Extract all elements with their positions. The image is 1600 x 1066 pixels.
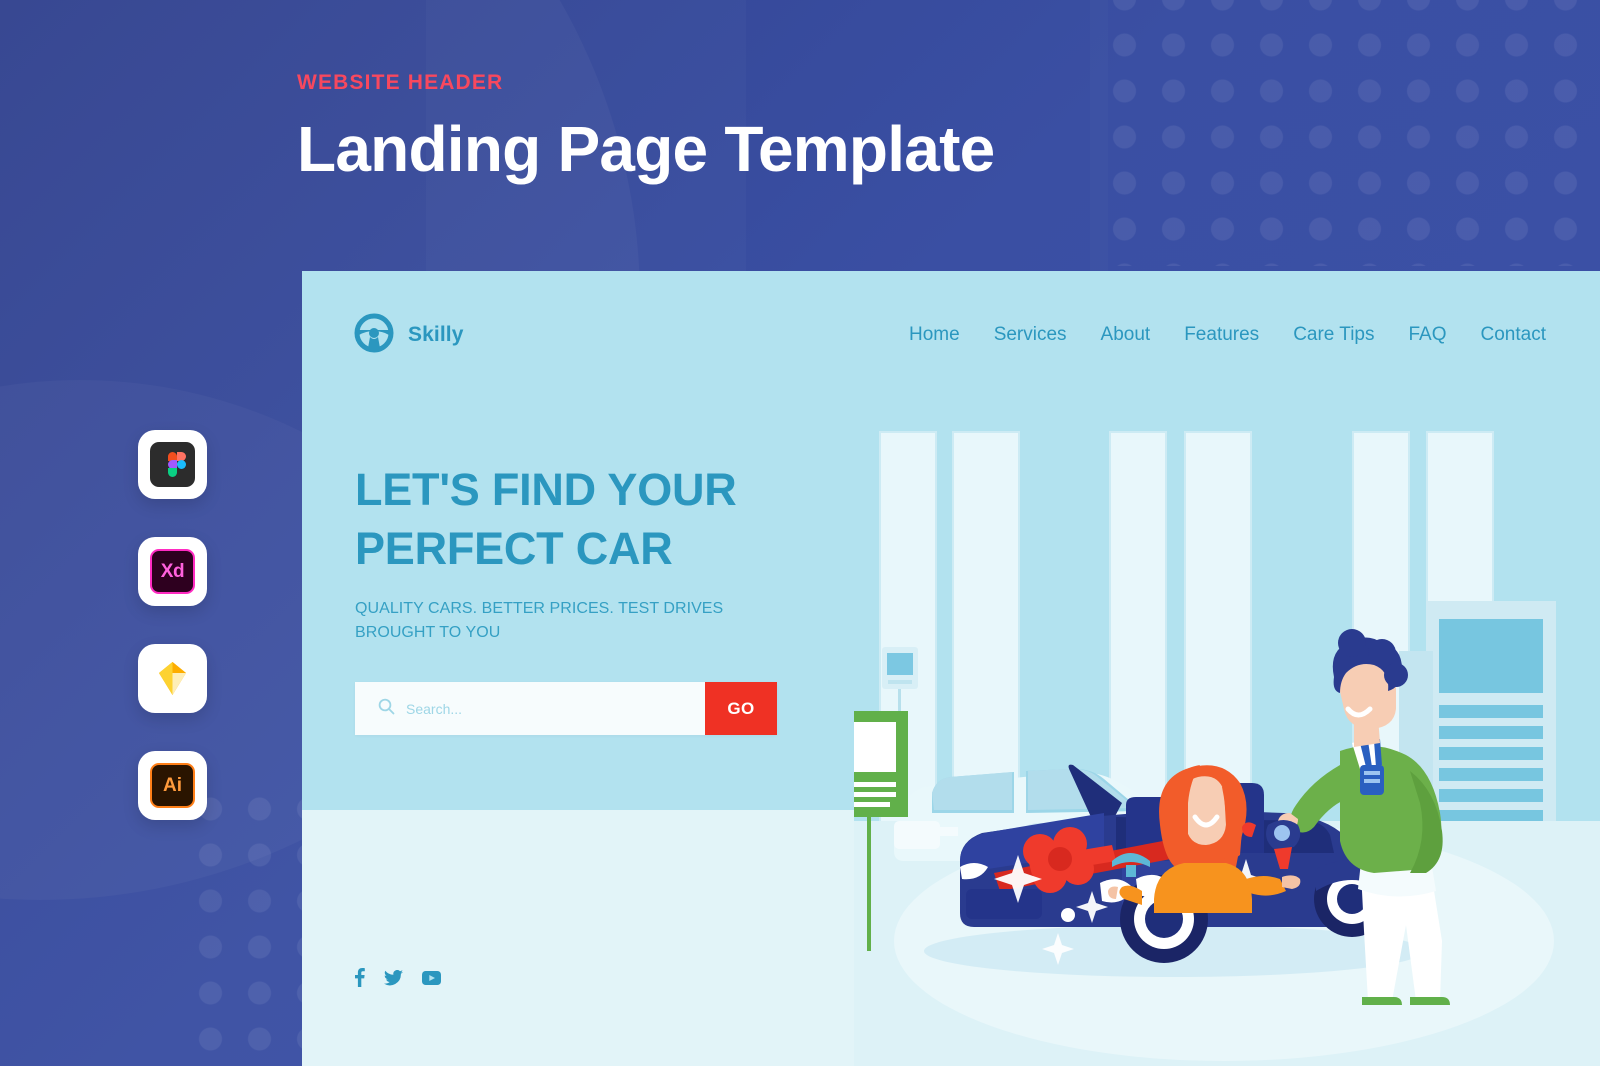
adobe-illustrator-icon: Ai xyxy=(150,763,195,808)
hero-copy: LET'S FIND YOUR PERFECT CAR QUALITY CARS… xyxy=(355,461,835,645)
hero-title-line-1: LET'S FIND YOUR xyxy=(355,464,737,515)
hero-title: LET'S FIND YOUR PERFECT CAR xyxy=(355,461,835,578)
social-links xyxy=(354,968,441,992)
search-bar: GO xyxy=(355,682,777,735)
go-button[interactable]: GO xyxy=(705,682,777,735)
figma-tile[interactable] xyxy=(138,430,207,499)
brand-name: Skilly xyxy=(408,323,464,347)
sketch-icon xyxy=(150,656,195,701)
promo-kicker: WEBSITE HEADER xyxy=(297,72,1197,93)
adobe-xd-tile[interactable]: Xd xyxy=(138,537,207,606)
hero-subtitle-line-1: QUALITY CARS. BETTER PRICES. TEST DRIVES xyxy=(355,600,723,617)
hero-subtitle-line-2: BROUGHT TO YOU xyxy=(355,624,500,641)
search-input[interactable] xyxy=(406,701,705,717)
sketch-tile[interactable] xyxy=(138,644,207,713)
adobe-xd-icon: Xd xyxy=(150,549,195,594)
figma-icon xyxy=(150,442,195,487)
site-navbar: Skilly Home Services About Features Care… xyxy=(302,271,1600,399)
search-icon xyxy=(378,698,395,720)
promo-header: WEBSITE HEADER Landing Page Template xyxy=(297,72,1197,183)
nav-item-care-tips[interactable]: Care Tips xyxy=(1293,324,1374,346)
facebook-icon[interactable] xyxy=(354,968,365,992)
steering-wheel-icon xyxy=(354,313,394,358)
nav-item-services[interactable]: Services xyxy=(994,324,1067,346)
search-field[interactable] xyxy=(355,682,705,735)
adobe-illustrator-tile[interactable]: Ai xyxy=(138,751,207,820)
nav-item-about[interactable]: About xyxy=(1101,324,1151,346)
nav-item-contact[interactable]: Contact xyxy=(1481,324,1546,346)
dot-pattern-bottom-left xyxy=(186,786,310,1066)
hero-title-line-2: PERFECT CAR xyxy=(355,523,673,574)
youtube-icon[interactable] xyxy=(422,971,441,990)
nav-item-features[interactable]: Features xyxy=(1184,324,1259,346)
hero-illustration xyxy=(854,421,1600,1066)
twitter-icon[interactable] xyxy=(384,970,403,991)
nav-item-faq[interactable]: FAQ xyxy=(1409,324,1447,346)
nav-links: Home Services About Features Care Tips F… xyxy=(909,324,1546,346)
hero-subtitle: QUALITY CARS. BETTER PRICES. TEST DRIVES… xyxy=(355,597,835,645)
tool-icon-rail: Xd Ai xyxy=(138,430,207,820)
landing-page-panel: Skilly Home Services About Features Care… xyxy=(302,271,1600,1066)
nav-item-home[interactable]: Home xyxy=(909,324,960,346)
page-title: Landing Page Template xyxy=(297,116,1197,183)
brand-logo[interactable]: Skilly xyxy=(354,313,464,358)
